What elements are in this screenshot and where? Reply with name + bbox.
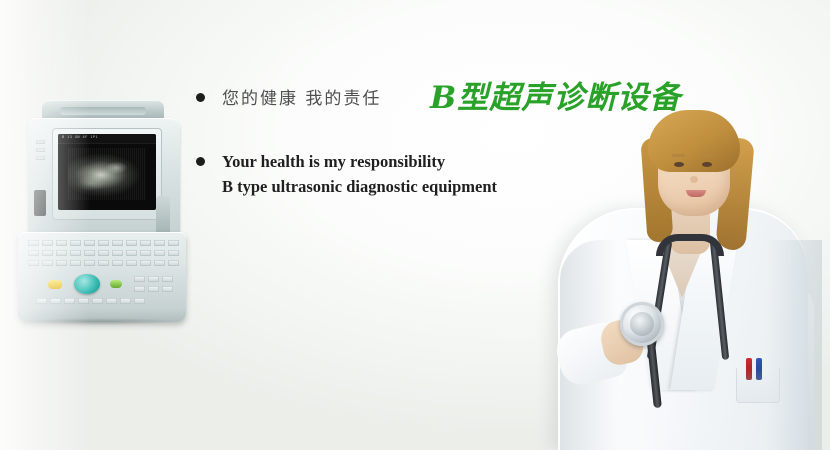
keyboard-key [106, 298, 117, 304]
keyboard-key [154, 240, 165, 246]
keyboard-key [56, 250, 67, 256]
product-title-english: B type ultrasonic diagnostic equipment [222, 177, 497, 197]
keyboard-key [154, 250, 165, 256]
keyboard-key [134, 286, 145, 292]
keyboard-key [42, 250, 53, 256]
machine-drop-shadow [26, 318, 178, 325]
keyboard-key [98, 250, 109, 256]
keyboard-key [148, 276, 159, 282]
keyboard-key [56, 260, 67, 266]
keyboard-key [50, 298, 61, 304]
keyboard-key [84, 250, 95, 256]
key-row [28, 250, 179, 256]
keyboard-key [126, 260, 137, 266]
key-row [28, 240, 179, 246]
keyboard-key [70, 240, 81, 246]
eyebrow-right [701, 154, 714, 157]
stethoscope-neck-loop [656, 234, 724, 256]
keyboard-key [120, 298, 131, 304]
keyboard-key [162, 286, 173, 292]
keyboard-key [70, 250, 81, 256]
keyboard-key [140, 260, 151, 266]
stethoscope-diaphragm [630, 312, 654, 336]
screen-status-text: B 13 GN 4F 1P1 [62, 135, 98, 139]
keyboard-key [126, 250, 137, 256]
slogan-english: Your health is my responsibility [222, 152, 445, 172]
keyboard-key [84, 260, 95, 266]
trackball-knob [74, 274, 100, 294]
machine-side-buttons [36, 140, 46, 164]
keyboard-key [84, 240, 95, 246]
hair-top [648, 110, 740, 172]
side-button [36, 156, 45, 160]
keyboard-key [134, 276, 145, 282]
keyboard-key [148, 286, 159, 292]
freeze-key [48, 280, 62, 289]
keyboard-key [112, 250, 123, 256]
scan-speckle-overlay [68, 148, 146, 200]
machine-lid-slot [60, 107, 146, 115]
keyboard-key [162, 276, 173, 282]
keyboard-key [112, 240, 123, 246]
side-button [36, 148, 45, 152]
key-row [28, 260, 179, 266]
print-key [110, 280, 122, 288]
bullet-dot-icon [196, 93, 205, 102]
keyboard-key [56, 240, 67, 246]
keyboard-key [42, 240, 53, 246]
keyboard-key [168, 260, 179, 266]
coat-chest-pocket [736, 368, 780, 403]
keyboard-key [98, 260, 109, 266]
eye-left [674, 162, 684, 167]
keyboard-key [126, 240, 137, 246]
keyboard-key [98, 240, 109, 246]
keyboard-key [28, 240, 39, 246]
product-banner: B 13 GN 4F 1P1 [0, 0, 830, 450]
keyboard-key [134, 298, 145, 304]
bullet-dot-icon [196, 157, 205, 166]
side-button [36, 140, 45, 144]
stethoscope-chestpiece [620, 302, 664, 346]
keyboard-key [140, 250, 151, 256]
key-row [134, 286, 173, 292]
screen-status-bar: B 13 GN 4F 1P1 [58, 134, 156, 144]
eyebrow-left [672, 154, 685, 157]
keyboard-key [28, 250, 39, 256]
machine-screen: B 13 GN 4F 1P1 [58, 134, 156, 210]
key-row [134, 276, 173, 282]
keyboard-key [140, 240, 151, 246]
keyboard-key [78, 298, 89, 304]
ultrasound-machine-image: B 13 GN 4F 1P1 [18, 100, 186, 325]
keyboard-key [28, 260, 39, 266]
keyboard-key [168, 240, 179, 246]
keyboard-key [70, 260, 81, 266]
keyboard-key [112, 260, 123, 266]
probe-connector [34, 190, 46, 216]
machine-screen-bezel: B 13 GN 4F 1P1 [52, 128, 162, 220]
nose [690, 176, 698, 183]
slogan-chinese: 您的健康 我的责任 [222, 84, 381, 109]
doctor-photo [530, 90, 830, 450]
keyboard-key [42, 260, 53, 266]
keyboard-key [154, 260, 165, 266]
ultrasound-scan-image [68, 148, 146, 200]
keyboard-key [168, 250, 179, 256]
coat-shading-right [766, 240, 822, 450]
keyboard-key [92, 298, 103, 304]
key-row [36, 298, 145, 304]
keyboard-key [36, 298, 47, 304]
machine-keyboard-base [18, 232, 186, 322]
keyboard-key [64, 298, 75, 304]
eye-right [702, 162, 712, 167]
